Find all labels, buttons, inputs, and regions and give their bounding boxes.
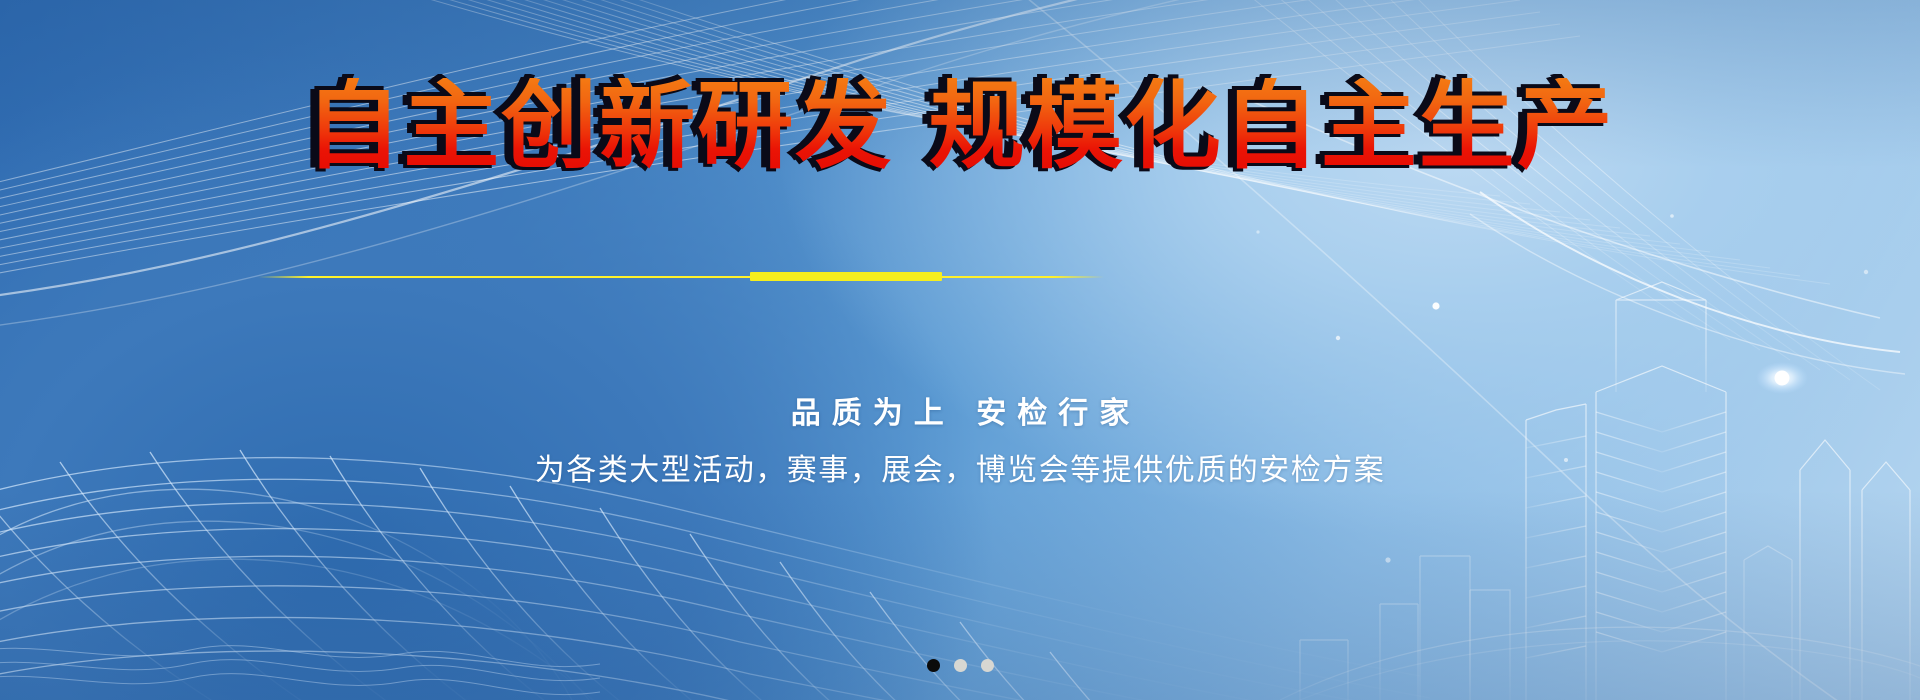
carousel-dots: [0, 659, 1920, 672]
subtitle-slogan: 品质为上 安检行家: [0, 392, 1920, 436]
hero-banner: 自主创新研发 规模化自主生产 品质为上 安检行家 为各类大型活动，赛事，展会，博…: [0, 0, 1920, 700]
hero-title-container: 自主创新研发 规模化自主生产: [0, 78, 1920, 174]
carousel-dot-2[interactable]: [954, 659, 967, 672]
page-title: 自主创新研发 规模化自主生产: [305, 78, 1614, 174]
carousel-dot-3[interactable]: [981, 659, 994, 672]
hero-subtitle-container: 品质为上 安检行家 为各类大型活动，赛事，展会，博览会等提供优质的安检方案: [0, 392, 1920, 492]
subtitle-description: 为各类大型活动，赛事，展会，博览会等提供优质的安检方案: [0, 450, 1920, 492]
carousel-dot-1[interactable]: [927, 659, 940, 672]
